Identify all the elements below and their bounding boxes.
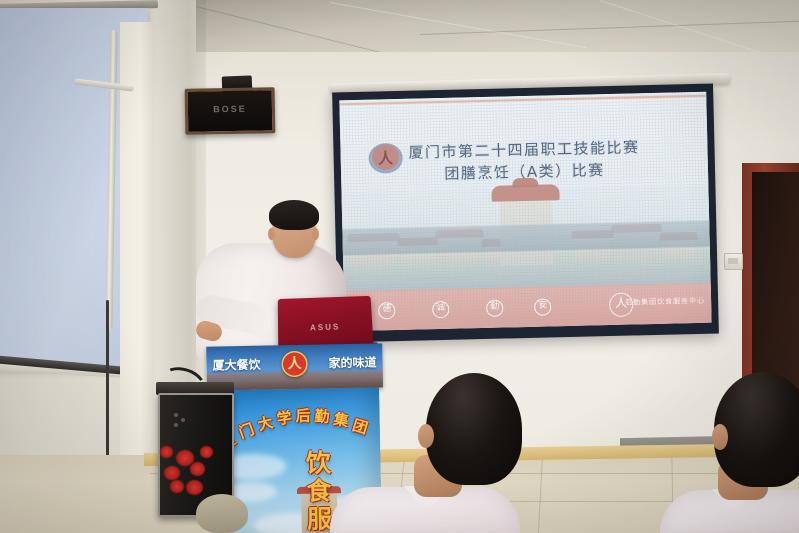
arc-char-7: 集 [332,408,351,431]
wall-pillar [120,22,154,492]
arc-char-5: 后 [295,405,310,426]
arc-char-3: 大 [255,411,275,435]
speaker-brand-label: BOSE [188,103,272,114]
lectern-arc-text: 厦 门 大 学 后 勤 集 团 [219,402,372,449]
photo-scene: BOSE 人 厦门市第二十四届职工技能比赛 团膳烹饪（A类）比赛 2018年10… [0,0,799,533]
projector-pixel-grid [339,92,711,332]
presenter-hair [269,200,319,230]
audience-right-ear [712,424,728,450]
laptop-brand-label: ASUS [278,321,373,333]
arc-char-6: 勤 [314,405,331,427]
vertical-char-3: 服 [307,506,332,531]
slide-content: 人 厦门市第二十四届职工技能比赛 团膳烹饪（A类）比赛 2018年10月 [339,92,711,332]
lectern-logo-icon: 人 [281,351,307,377]
light-switch[interactable] [724,253,743,270]
projection-screen: 人 厦门市第二十四届职工技能比赛 团膳烹饪（A类）比赛 2018年10月 [332,84,719,343]
presenter-ear-right [312,228,319,240]
wall-speaker: BOSE [185,87,276,135]
audience-left-ear [418,424,434,448]
lectern-banner-left-text: 厦大餐饮 [212,356,260,374]
rack-indicator-lights [174,413,178,417]
lectern-banner-right-text: 家的味道 [328,353,376,371]
flower-bouquet [160,440,222,502]
presenter-laptop[interactable]: ASUS [278,296,374,349]
arc-char-4: 学 [275,406,293,429]
presenter-ear-left [268,228,275,240]
screen-surface: 人 厦门市第二十四届职工技能比赛 团膳烹饪（A类）比赛 2018年10月 [339,92,711,332]
vertical-char-2: 食 [306,478,331,503]
audience-left-hair [426,373,522,485]
arc-char-8: 团 [350,414,370,438]
arc-char-2: 门 [236,418,257,443]
floor-bag [196,494,248,533]
vertical-char-1: 饮 [306,450,331,475]
